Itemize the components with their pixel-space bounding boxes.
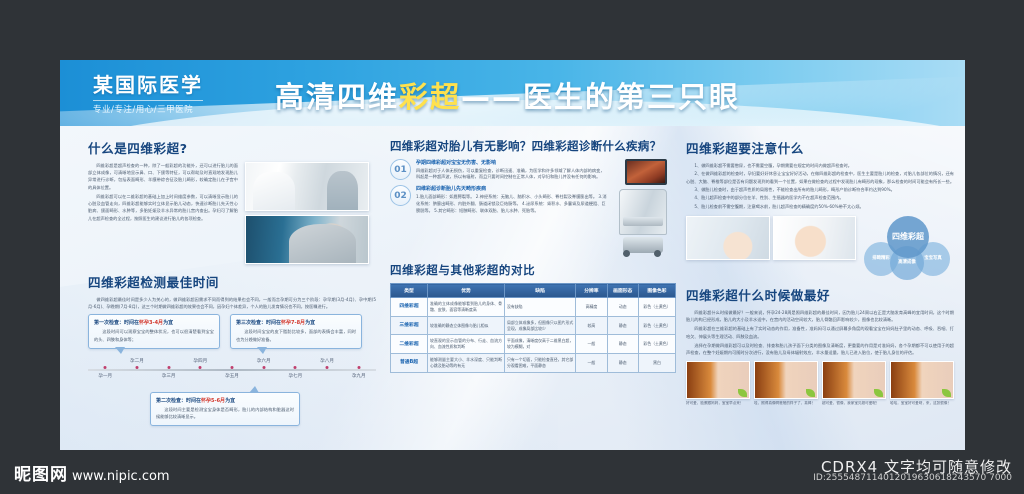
timeline-tick <box>199 366 202 369</box>
table-row: 四维彩超 准确的立体成像能够看到胎儿的身体、骨骼、皮肤、面容等清晰度高 没有缺陷… <box>391 298 676 317</box>
table-header-cell: 类型 <box>391 284 428 298</box>
pregnant-woman-photo <box>686 216 770 260</box>
timeline-label: 孕二月 <box>130 358 144 364</box>
leaf-icon <box>874 389 883 397</box>
table-header-cell: 分辨率 <box>576 284 607 298</box>
table-cell-form: 动态 <box>607 298 638 317</box>
precaution-item: 1、做四维彩超不需要憋尿，也不需要空腹，孕期需要在规定的时间内做超声检查时。 <box>686 162 954 169</box>
table-cell-advantage: 较直观的显示血管的分布、行走、血流方向、血流性质和判断 <box>428 335 505 354</box>
baby-scan-photo <box>890 361 954 399</box>
checkup2-tail: 为宜 <box>225 398 235 404</box>
qa-item: 01 孕期四维彩超对宝宝无伤害、无影响 四维彩超对于人体无损伤，可以重复检查，诊… <box>390 159 608 181</box>
brand-tagline: 专业/专注/用心/三甲医院 <box>93 100 203 115</box>
checkup-box-third-title: 第三次检查：时间在怀孕7-8月为宜 <box>236 319 356 326</box>
precautions-list: 1、做四维彩超不需要憋尿，也不需要空腹，孕期需要在规定的时间内做超声检查时。 2… <box>686 162 954 210</box>
table-cell-advantage: 准确的立体成像能够看到胎儿的身体、骨骼、皮肤、面容等清晰度高 <box>428 298 505 317</box>
best-moment-section: 四维彩超什么时候做最好 四维彩超什么时候做最好？一般来说，怀孕24-28周是照四… <box>686 285 954 405</box>
timeline-tick <box>135 366 138 369</box>
table-cell-form: 静态 <box>607 354 638 373</box>
qa-body: 1.胎儿面部畸形：如唇腭裂等。 2.神经系统：无脑儿、脑积水、小头畸形、脊柱裂及… <box>416 194 608 215</box>
checkup3-label: 第三次检查：时间在 <box>236 320 281 326</box>
poster: 某国际医学 专业/专注/用心/三甲医院 高清四维彩超——医生的第三只眼 什么是四… <box>60 60 965 450</box>
baby-scan-photo <box>686 361 750 399</box>
table-cell-resolution: 较高 <box>576 316 607 335</box>
baby-scan-photo <box>754 361 818 399</box>
bottom-bar: 昵图网www.nipic.com CDRX4 文字均可随意修改 ID:25554… <box>0 450 1024 494</box>
comparison-table: 类型 优势 缺陷 分辨率 画面形态 图像色彩 四维彩超 准确的立体成像能够看到胎… <box>390 283 676 373</box>
pregnancy-timeline: 孕一月 孕二月 孕三月 孕四月 孕五月 孕六月 孕七月 孕八月 孕九月 <box>88 358 376 382</box>
table-header-cell: 优势 <box>428 284 505 298</box>
table-cell-advantage: 能够测量主要大小、羊水深度、只能判断心跳及胎动等的有无 <box>428 354 505 373</box>
comparison-table-section: 四维彩超与其他彩超的对比 类型 优势 缺陷 分辨率 画面形态 图像色彩 <box>390 262 676 373</box>
timeline-label: 孕八月 <box>320 358 334 364</box>
checkup3-range: 怀孕7-8月 <box>281 320 305 326</box>
timeline-label: 孕七月 <box>288 373 302 379</box>
precaution-item: 3、做胎儿检查时，由于超声性质的局限性，不能检查出所有的胎儿畸形，畸形产前诊断符… <box>686 186 954 193</box>
table-cell-type: 二维彩超 <box>391 335 428 354</box>
venn-diagram: 排畸精彩 宝宝写真 高清成像 四维彩超 <box>862 216 952 278</box>
ultrasound-scan-photo <box>245 215 369 264</box>
table-header-cell: 画面形态 <box>607 284 638 298</box>
comparison-table-title: 四维彩超与其他彩超的对比 <box>390 262 676 278</box>
checkup3-tail: 为宜 <box>305 320 315 326</box>
checkup1-range: 怀孕3-4月 <box>139 320 163 326</box>
middle-qa-list: 01 孕期四维彩超对宝宝无伤害、无影响 四维彩超对于人体无损伤，可以重复检查，诊… <box>390 159 608 255</box>
table-header-cell: 缺陷 <box>504 284 575 298</box>
middle-heading: 四维彩超对胎儿有无影响？四维彩超诊断什么疾病？ <box>390 138 676 154</box>
timeline-label: 孕五月 <box>225 373 239 379</box>
best-moment-paragraph-2: 四维彩超在三维彩超的基础上有了实时动态的作用，准备性，准妈妈可以通过屏幕多角度的… <box>686 325 954 339</box>
site-url: www.nipic.com <box>72 469 170 484</box>
baby-caption: 好可爱，脸蛋跟妈妈，宝宝早点来！ <box>686 401 750 406</box>
right-section2-title: 四维彩超什么时候做最好 <box>686 285 954 304</box>
baby-card: 哇，照得真像啊爸爸的样子了，真棒！ <box>754 361 818 405</box>
table-cell-form: 静态 <box>607 316 638 335</box>
leaf-icon <box>806 389 815 397</box>
qa-number-badge: 02 <box>390 185 411 206</box>
machine-keyboard <box>623 217 663 226</box>
qa-title: 孕期四维彩超对宝宝无伤害、无影响 <box>416 159 608 166</box>
baby-gallery: 好可爱，脸蛋跟妈妈，宝宝早点来！ 哇，照得真像啊爸爸的样子了，真棒！ 超可爱，很… <box>686 361 954 405</box>
table-cell-type: 普通B超 <box>391 354 428 373</box>
table-cell-drawback: 局部立体成像多，但图像只以图片形式呈现，成像局部比较少 <box>504 316 575 335</box>
checkup-box-first-title: 第一次检查：时间在怀孕3-4月为宜 <box>94 319 214 326</box>
checkup-box-second-title: 第二次检查：时间在怀孕5-6月为宜 <box>156 397 294 404</box>
best-moment-paragraph-3: 选择在孕期做四维彩超可以及时检查、排查和胎儿孩子面下分类的图像及清晰度，更重要的… <box>686 342 954 356</box>
timeline-label: 孕六月 <box>257 358 271 364</box>
table-cell-color: 彩色（土黄色） <box>638 335 675 354</box>
timeline-label: 孕三月 <box>162 373 176 379</box>
timeline-axis <box>88 369 376 371</box>
precaution-item: 4、胎儿超声检查中的部分位在羊、性别、生殖器的医学内不在超声检查范围内。 <box>686 194 954 201</box>
left-section2-title: 四维彩超检测最佳时间 <box>88 272 376 291</box>
left-column: 什么是四维彩超? 四维彩超是超声检查的一种，除了一般彩超的功能外，还可以进行胎儿… <box>88 138 376 426</box>
middle-qa-block: 01 孕期四维彩超对宝宝无伤害、无影响 四维彩超对于人体无损伤，可以重复检查，诊… <box>390 159 676 255</box>
file-id: ID:2555487114012019630618243570 7000 <box>813 473 1012 483</box>
checkup-box-second-body: 这段时间主要是检测宝宝身体是否畸形，胎儿的内部结构和脏器这时候能够比较清晰显示。 <box>156 406 294 420</box>
table-cell-color: 彩色（土黄色） <box>638 316 675 335</box>
brand-name: 某国际医学 <box>93 69 203 98</box>
checkup2-label: 第二次检查：时间在 <box>156 398 201 404</box>
best-moment-paragraph-1: 四维彩超什么时候做最好？一般来说，怀孕24-28周是照四维彩超的最佳时间，因为胎… <box>686 309 954 323</box>
checkup1-tail: 为宜 <box>163 320 173 326</box>
title-highlight: 彩超 <box>399 80 461 114</box>
table-cell-drawback: 没有缺陷 <box>504 298 575 317</box>
left-paragraph-1: 四维彩超是超声检查的一种，除了一般彩超的功能外，还可以进行胎儿的面部立体成像，可… <box>88 162 238 191</box>
table-cell-resolution: 一般 <box>576 335 607 354</box>
checkup-box-first-body: 这段时间可以观察宝宝的整体状况，也可以很清楚看到宝宝的头、四肢和身体等； <box>94 328 214 342</box>
precaution-item: 5、胎儿检查前不需空腹期，注意喝水前，胎儿超声检查的精确度约50%-60%带不太… <box>686 203 954 210</box>
timeline-tick <box>104 366 107 369</box>
file-info: CDRX4 文字均可随意修改 ID:2555487114012019630618… <box>813 456 1012 483</box>
timeline-label: 孕九月 <box>352 373 366 379</box>
checkup-box-third: 第三次检查：时间在怀孕7-8月为宜 这段时间宝宝的皮下脂肪比较多，面部的表情会丰… <box>230 314 362 348</box>
checkup-box-third-body: 这段时间宝宝的皮下脂肪比较多，面部的表情会丰富，同时也为分娩做好准备。 <box>236 328 356 342</box>
timeline-label: 孕一月 <box>98 373 112 379</box>
page-title: 高清四维彩超——医生的第三只眼 <box>275 74 740 116</box>
table-header-cell: 图像色彩 <box>638 284 675 298</box>
baby-caption: 哈哈，宝宝好可爱呀，来，这张很像！ <box>890 401 954 406</box>
table-row: 三维彩超 较准确的静态立体图像与胎儿相似 局部立体成像多，但图像只以图片形式呈现… <box>391 316 676 335</box>
table-header-row: 类型 优势 缺陷 分辨率 画面形态 图像色彩 <box>391 284 676 298</box>
qa-text: 四维彩超诊断胎儿先天畸形疾病 1.胎儿面部畸形：如唇腭裂等。 2.神经系统：无脑… <box>416 185 608 214</box>
right-column: 四维彩超要注意什么 1、做四维彩超不需要憋尿，也不需要空腹，孕期需要在规定的时间… <box>686 138 954 405</box>
qa-body: 四维彩超对于人体无损伤，可以重复检查，诊断迅速、准确，为医学和许多领域了解人体内… <box>416 168 608 182</box>
checkup2-range: 怀孕5-6月 <box>201 398 225 404</box>
title-part-b: ——医生的第三只眼 <box>461 80 740 114</box>
leaf-icon <box>738 389 747 397</box>
best-time-paragraph: 做四维彩超最佳时间是多少人为关心的，做四维彩超因需求不同而得到的结果也会不同，一… <box>88 296 376 310</box>
site-watermark: 昵图网www.nipic.com <box>14 460 170 485</box>
table-cell-drawback: 只有一个切面，只能检查直径，其它部分观看困难，平面静态 <box>504 354 575 373</box>
site-name-cn: 昵图网 <box>14 465 68 485</box>
doctor-consultation-photo <box>245 162 369 211</box>
checkup-box-row: 第一次检查：时间在怀孕3-4月为宜 这段时间可以观察宝宝的整体状况，也可以很清楚… <box>88 314 376 348</box>
best-time-section: 四维彩超检测最佳时间 做四维彩超最佳时间是多少人为关心的，做四维彩超因需求不同而… <box>88 272 376 426</box>
qa-title: 四维彩超诊断胎儿先天畸形疾病 <box>416 185 608 192</box>
middle-column: 四维彩超对胎儿有无影响？四维彩超诊断什么疾病？ 01 孕期四维彩超对宝宝无伤害、… <box>390 138 676 373</box>
timeline-tick <box>262 366 265 369</box>
qa-text: 孕期四维彩超对宝宝无伤害、无影响 四维彩超对于人体无损伤，可以重复检查，诊断迅速… <box>416 159 608 181</box>
timeline-tick <box>357 366 360 369</box>
timeline-tick <box>294 366 297 369</box>
left-photo-stack <box>245 162 369 264</box>
qa-number-badge: 01 <box>390 159 411 180</box>
timeline-tick <box>231 366 234 369</box>
right-media-row: 排畸精彩 宝宝写真 高清成像 四维彩超 <box>686 216 954 278</box>
baby-caption: 哇，照得真像啊爸爸的样子了，真棒！ <box>754 401 818 406</box>
table-cell-advantage: 较准确的静态立体图像与胎儿相似 <box>428 316 505 335</box>
machine-screen <box>625 159 667 185</box>
machine-wheel <box>623 250 630 257</box>
screenshot-canvas: 某国际医学 专业/专注/用心/三甲医院 高清四维彩超——医生的第三只眼 什么是四… <box>0 0 1024 494</box>
baby-scan-photo <box>822 361 886 399</box>
baby-caption: 超可爱，很像，我家宝贝超可爱呢！ <box>822 401 886 406</box>
checkup-box-first: 第一次检查：时间在怀孕3-4月为宜 这段时间可以观察宝宝的整体状况，也可以很清楚… <box>88 314 220 348</box>
left-intro-block: 四维彩超是超声检查的一种，除了一般彩超的功能外，还可以进行胎儿的面部立体成像，可… <box>88 162 376 264</box>
title-part-a: 高清四维 <box>275 80 399 114</box>
timeline-label: 孕四月 <box>193 358 207 364</box>
table-cell-form: 静态 <box>607 335 638 354</box>
right-section1-title: 四维彩超要注意什么 <box>686 138 954 157</box>
hospital-logo: 某国际医学 专业/专注/用心/三甲医院 <box>93 69 203 115</box>
venn-circle-main: 四维彩超 <box>887 216 929 258</box>
precaution-item: 2、在做四维彩超的检查时，孕妇要好好休息让宝宝好好活动，在做四维彩超的检查中，医… <box>686 170 954 185</box>
table-cell-resolution: 一般 <box>576 354 607 373</box>
left-intro-text: 四维彩超是超声检查的一种，除了一般彩超的功能外，还可以进行胎儿的面部立体成像，可… <box>88 162 238 264</box>
timeline-tick <box>326 366 329 369</box>
table-cell-color: 彩色（土黄色） <box>638 298 675 317</box>
baby-card: 超可爱，很像，我家宝贝超可爱呢！ <box>822 361 886 405</box>
table-cell-resolution: 高精度 <box>576 298 607 317</box>
qa-item: 02 四维彩超诊断胎儿先天畸形疾病 1.胎儿面部畸形：如唇腭裂等。 2.神经系统… <box>390 185 608 214</box>
left-section1-title: 什么是四维彩超? <box>88 138 376 157</box>
table-cell-color: 黑白 <box>638 354 675 373</box>
poster-header: 某国际医学 专业/专注/用心/三甲医院 高清四维彩超——医生的第三只眼 <box>60 60 965 126</box>
checkup1-label: 第一次检查：时间在 <box>94 320 139 326</box>
left-paragraph-2: 四维彩超可以在二维彩超的基础上加上时间维度参数，可以清晰显示胎儿的心脏及血管走向… <box>88 193 238 222</box>
table-cell-type: 三维彩超 <box>391 316 428 335</box>
machine-body <box>619 189 667 235</box>
ultrasound-machine-illustration <box>613 159 673 255</box>
baby-card: 好可爱，脸蛋跟妈妈，宝宝早点来！ <box>686 361 750 405</box>
timeline-tick <box>167 366 170 369</box>
baby-card: 哈哈，宝宝好可爱呀，来，这张很像！ <box>890 361 954 405</box>
right-photo-pair <box>686 216 856 260</box>
checkup-box-second: 第二次检查：时间在怀孕5-6月为宜 这段时间主要是检测宝宝身体是否畸形，胎儿的内… <box>150 392 300 426</box>
table-row: 二维彩超 较直观的显示血管的分布、行走、血流方向、血流性质和判断 平面成像，清晰… <box>391 335 676 354</box>
leaf-icon <box>942 389 951 397</box>
table-cell-type: 四维彩超 <box>391 298 428 317</box>
newborn-baby-photo <box>773 216 857 260</box>
machine-wheel <box>654 250 661 257</box>
table-cell-drawback: 平面成像，清晰度仅高于二维黑白超，较为模糊，对 <box>504 335 575 354</box>
machine-shape <box>613 159 671 255</box>
table-row: 普通B超 能够测量主要大小、羊水深度、只能判断心跳及胎动等的有无 只有一个切面，… <box>391 354 676 373</box>
